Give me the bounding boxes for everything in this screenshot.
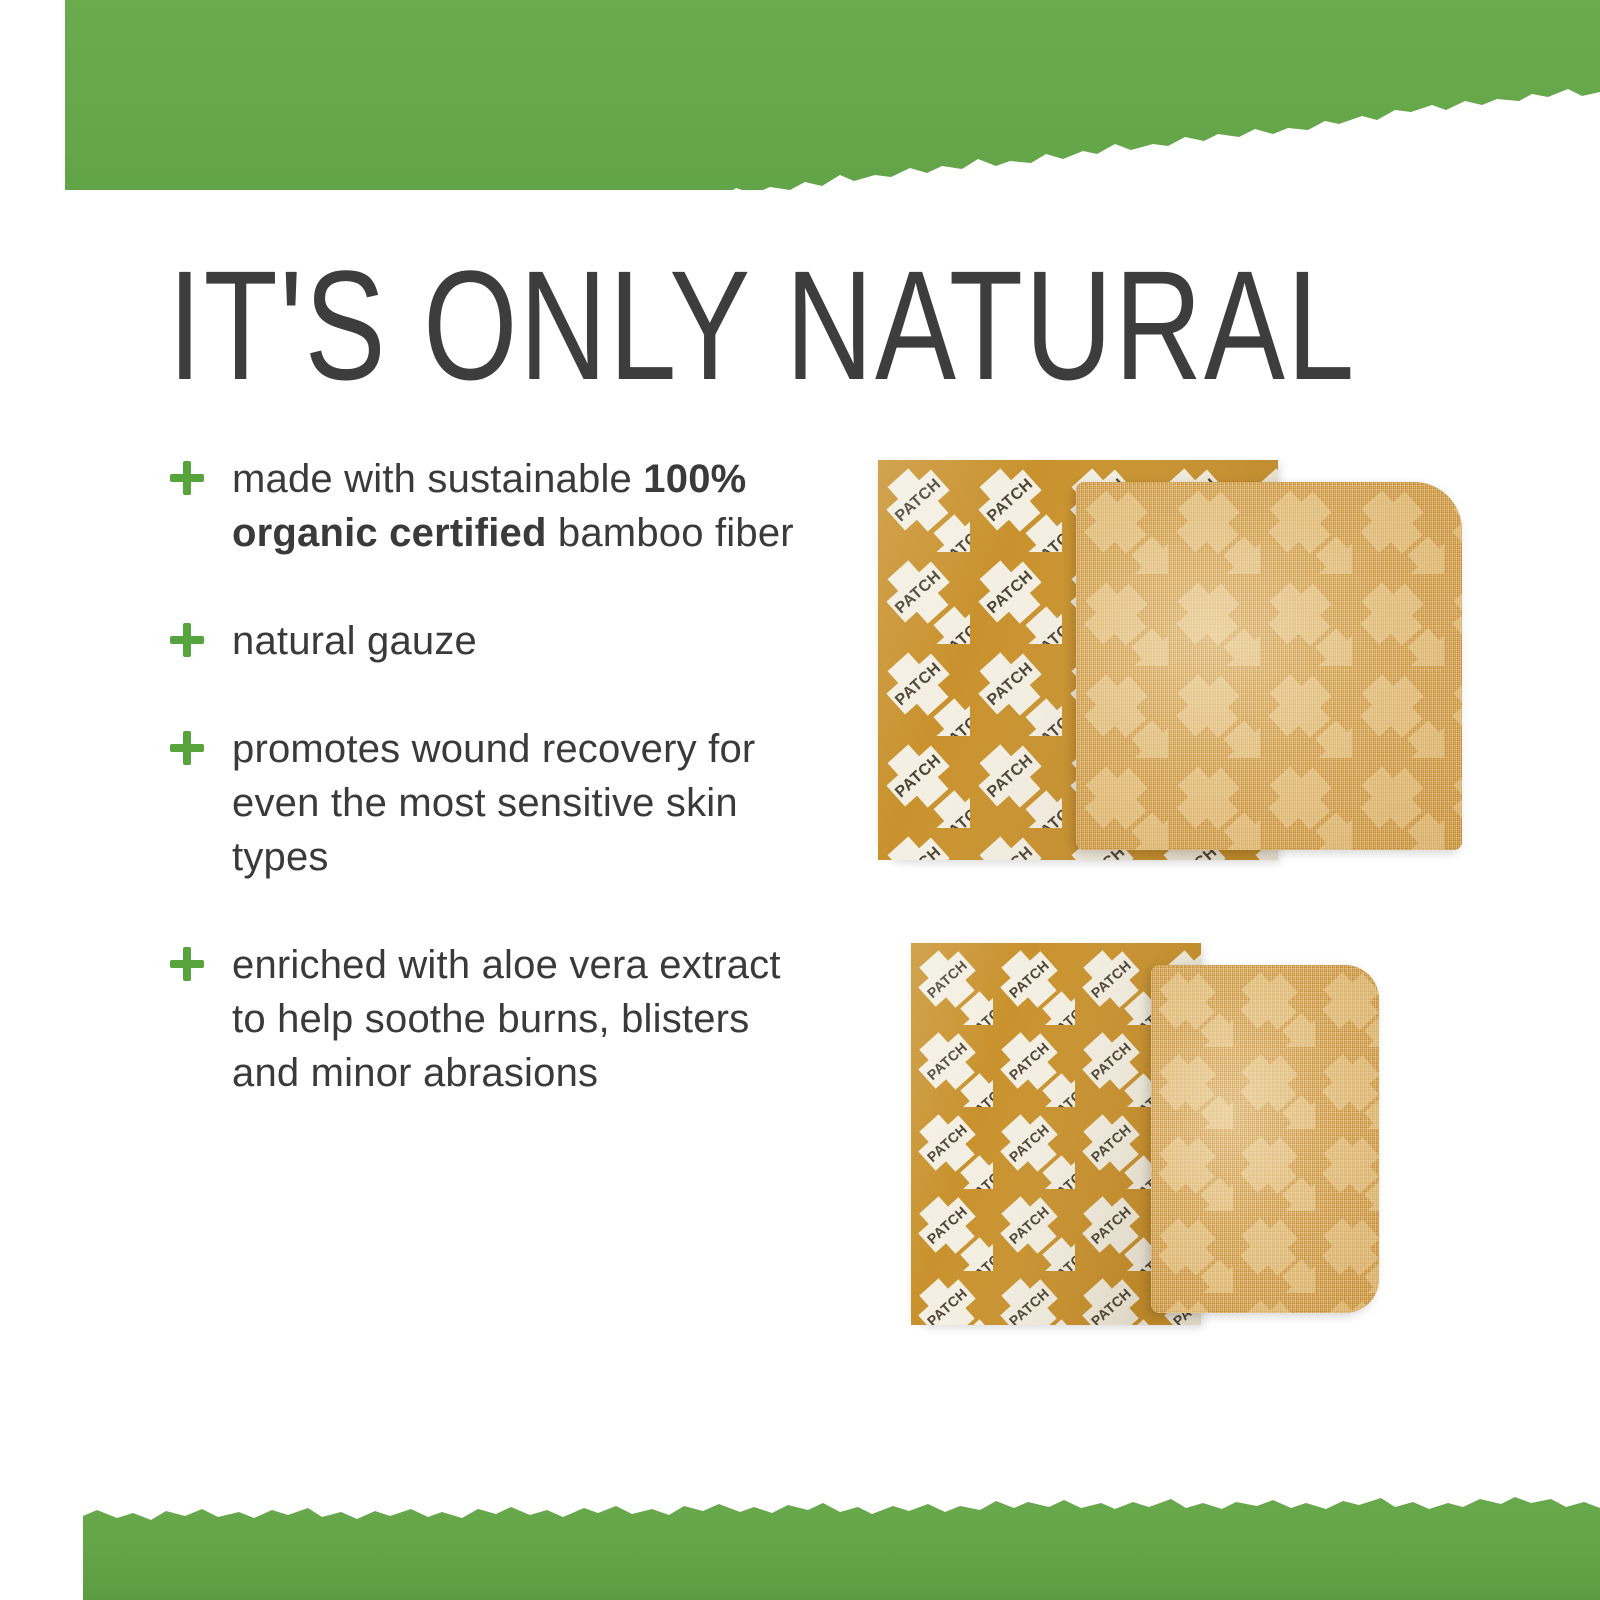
- feature-text-natural-gauze: natural gauze: [232, 614, 477, 668]
- list-item: enriched with aloe vera extract to help …: [170, 938, 810, 1100]
- feature-text-sustainable-bamboo: made with sustainable 100% organic certi…: [232, 452, 810, 560]
- feature-text-wound-recovery: promotes wound recovery for even the mos…: [232, 722, 810, 884]
- plus-icon: [170, 620, 204, 664]
- feature-text-aloe-vera: enriched with aloe vera extract to help …: [232, 938, 810, 1100]
- plus-icon: [170, 944, 204, 988]
- feature-line-3: bamboo fiber: [547, 511, 794, 555]
- gauze-highlight: [1076, 482, 1462, 850]
- list-item: natural gauze: [170, 614, 810, 668]
- page-title: IT'S ONLY NATURAL: [168, 248, 1356, 404]
- gauze-highlight: [1151, 965, 1379, 1313]
- infographic-canvas: IT'S ONLY NATURAL made with sustainable …: [0, 0, 1600, 1600]
- gauze-bandage-pad-large: [1076, 482, 1462, 850]
- feature-line-1: made with sustainable: [232, 457, 643, 501]
- product-photo-large-bandage: PATCH: [870, 448, 1470, 868]
- torn-paper-band-bottom: [0, 1400, 1600, 1600]
- list-item: made with sustainable 100% organic certi…: [170, 452, 810, 560]
- product-photo-small-bandage: PATCH: [905, 925, 1385, 1325]
- gauze-bandage-pad-small: [1151, 965, 1379, 1313]
- list-item: promotes wound recovery for even the mos…: [170, 722, 810, 884]
- feature-list: made with sustainable 100% organic certi…: [170, 452, 810, 1100]
- plus-icon: [170, 458, 204, 502]
- torn-paper-band-top: [0, 0, 1600, 190]
- plus-icon: [170, 728, 204, 772]
